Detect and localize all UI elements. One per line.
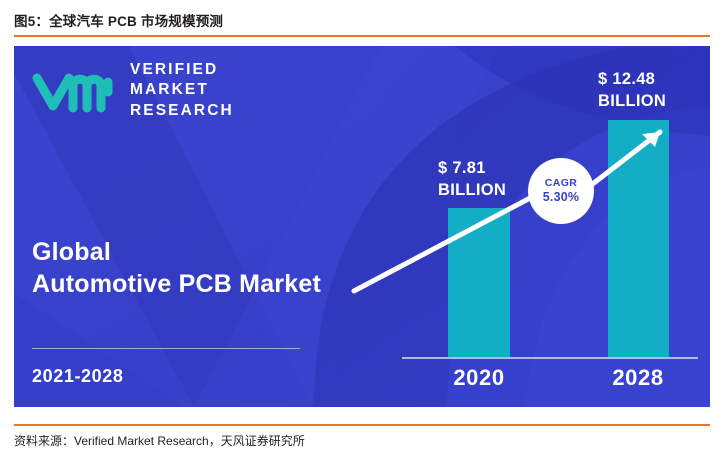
bar-chart: $ 7.81 BILLION $ 12.48 BILLION CAGR 5.30… <box>14 46 710 407</box>
bar-value-2028: $ 12.48 BILLION <box>598 69 666 113</box>
source-note: 资料来源：Verified Market Research，天风证券研究所 <box>14 432 305 449</box>
figure-caption: 图5：全球汽车 PCB 市场规模预测 <box>14 10 223 30</box>
bar-value-2020: $ 7.81 BILLION <box>438 158 506 202</box>
divider-rule-top <box>14 35 710 37</box>
bar-value-2028-unit: BILLION <box>598 91 666 113</box>
bar-value-2020-unit: BILLION <box>438 180 506 202</box>
cagr-value: 5.30% <box>543 190 579 205</box>
infographic-panel: VERIFIED MARKET RESEARCH Global Automoti… <box>14 46 710 407</box>
chart-axis-line <box>402 357 698 359</box>
bar-2020 <box>448 208 510 357</box>
cagr-label: CAGR <box>545 177 578 189</box>
cagr-badge: CAGR 5.30% <box>528 158 594 224</box>
bar-2028 <box>608 120 669 357</box>
bar-value-2028-amount: $ 12.48 <box>598 69 666 91</box>
bar-value-2020-amount: $ 7.81 <box>438 158 506 180</box>
axis-label-2020: 2020 <box>429 365 529 391</box>
axis-label-2028: 2028 <box>588 365 688 391</box>
divider-rule-bottom <box>14 424 710 426</box>
